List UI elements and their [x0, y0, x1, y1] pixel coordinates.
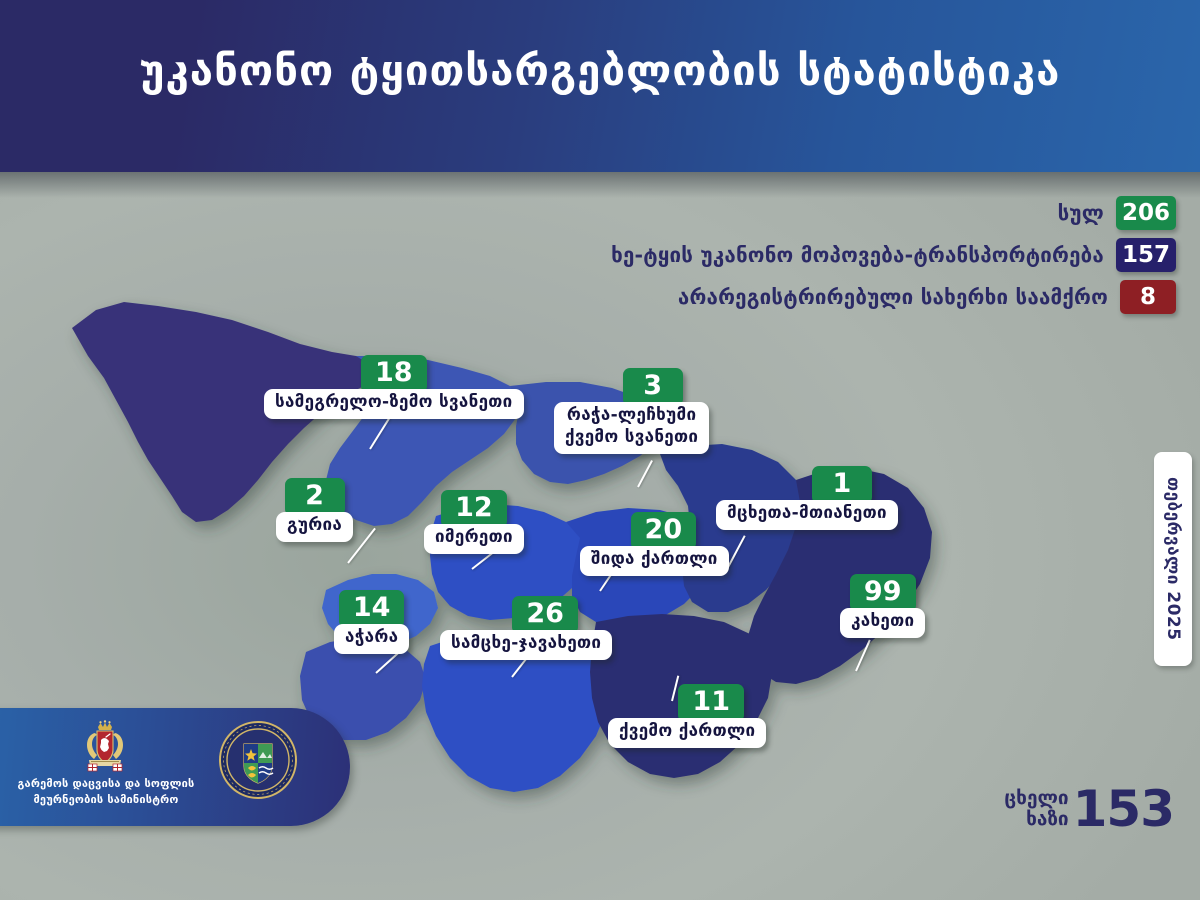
region-label-mtskheta-mtianeti: მცხეთა-მთიანეთი [716, 500, 898, 530]
region-value-imereti: 12 [441, 490, 507, 528]
region-marker-samegrelo-zemo-svaneti[interactable]: 18 სამეგრელო-ზემო სვანეთი [264, 355, 524, 419]
date-tag: თებერვალი 2025 [1154, 452, 1192, 666]
region-value-adjara: 14 [339, 590, 405, 628]
region-label-adjara: აჭარა [334, 624, 409, 654]
legend-row-illegal-logging-transport: ხე-ტყის უკანონო მოპოვება-ტრანსპორტირება … [611, 238, 1176, 272]
region-marker-adjara[interactable]: 14 აჭარა [334, 590, 409, 654]
legend-value-total: 206 [1116, 196, 1176, 230]
legend-value-illegal-logging-transport: 157 [1116, 238, 1176, 272]
ministry-seal-icon [218, 720, 298, 800]
infographic-canvas: 18 სამეგრელო-ზემო სვანეთი 3 რაჭა-ლეჩხუმი… [0, 0, 1200, 900]
page-title: უკანონო ტყითსარგებლობის სტატისტიკა [0, 46, 1200, 96]
header-banner: უკანონო ტყითსარგებლობის სტატისტიკა [0, 0, 1200, 172]
region-marker-shida-kartli[interactable]: 20 შიდა ქართლი [580, 512, 729, 576]
region-marker-kakheti[interactable]: 99 კახეთი [840, 574, 925, 638]
ministry-name-line1: გარემოს დაცვისა და სოფლის [6, 776, 206, 792]
region-marker-kvemo-kartli[interactable]: 11 ქვემო ქართლი [608, 684, 766, 748]
region-label-samtskhe-javakheti: სამცხე-ჯავახეთი [440, 630, 612, 660]
ministry-name-line2: მეურნეობის სამინისტრო [6, 792, 206, 808]
legend-label-illegal-logging-transport: ხე-ტყის უკანონო მოპოვება-ტრანსპორტირება [611, 243, 1104, 267]
hotline-label: ცხელი ხაზი [1004, 788, 1068, 829]
date-tag-text: თებერვალი 2025 [1163, 477, 1183, 641]
region-label-racha-line2: ქვემო სვანეთი [565, 427, 698, 449]
region-label-samegrelo-zemo-svaneti: სამეგრელო-ზემო სვანეთი [264, 389, 524, 419]
region-value-kvemo-kartli: 11 [678, 684, 744, 722]
ministry-name: გარემოს დაცვისა და სოფლის მეურნეობის სამ… [6, 776, 206, 808]
region-label-racha-line1: რაჭა-ლეჩხუმი [565, 405, 698, 427]
region-value-samtskhe-javakheti: 26 [512, 596, 578, 634]
hotline-number: 153 [1073, 786, 1174, 832]
region-label-imereti: იმერეთი [424, 524, 524, 554]
region-value-racha-lechkhumi: 3 [623, 368, 683, 406]
region-label-racha-lechkhumi: რაჭა-ლეჩხუმი ქვემო სვანეთი [554, 402, 709, 454]
region-value-kakheti: 99 [850, 574, 916, 612]
region-value-guria: 2 [285, 478, 345, 516]
region-value-mtskheta-mtianeti: 1 [812, 466, 872, 504]
legend-row-total: სულ 206 [1058, 196, 1176, 230]
region-marker-mtskheta-mtianeti[interactable]: 1 მცხეთა-მთიანეთი [716, 466, 898, 530]
hotline-word-2: ხაზი [1004, 809, 1068, 830]
ministry-banner: გარემოს დაცვისა და სოფლის მეურნეობის სამ… [0, 708, 350, 826]
hotline-word-1: ცხელი [1004, 788, 1068, 809]
region-label-kakheti: კახეთი [840, 608, 925, 638]
region-value-shida-kartli: 20 [631, 512, 697, 550]
region-marker-racha-lechkhumi[interactable]: 3 რაჭა-ლეჩხუმი ქვემო სვანეთი [554, 368, 709, 454]
region-label-kvemo-kartli: ქვემო ქართლი [608, 718, 766, 748]
region-label-guria: გურია [276, 512, 353, 542]
legend-value-unregistered-sawmill: 8 [1120, 280, 1176, 314]
legend-label-unregistered-sawmill: არარეგისტრირებული სახერხი საამქრო [678, 285, 1108, 309]
region-value-samegrelo-zemo-svaneti: 18 [361, 355, 427, 393]
legend-row-unregistered-sawmill: არარეგისტრირებული სახერხი საამქრო 8 [678, 280, 1176, 314]
region-marker-samtskhe-javakheti[interactable]: 26 სამცხე-ჯავახეთი [440, 596, 612, 660]
region-label-shida-kartli: შიდა ქართლი [580, 546, 729, 576]
region-marker-imereti[interactable]: 12 იმერეთი [424, 490, 524, 554]
coat-of-arms-icon [76, 720, 134, 774]
hotline: ცხელი ხაზი 153 [1004, 786, 1174, 832]
legend: სულ 206 ხე-ტყის უკანონო მოპოვება-ტრანსპო… [611, 196, 1176, 314]
legend-label-total: სულ [1058, 201, 1104, 225]
region-marker-guria[interactable]: 2 გურია [276, 478, 353, 542]
